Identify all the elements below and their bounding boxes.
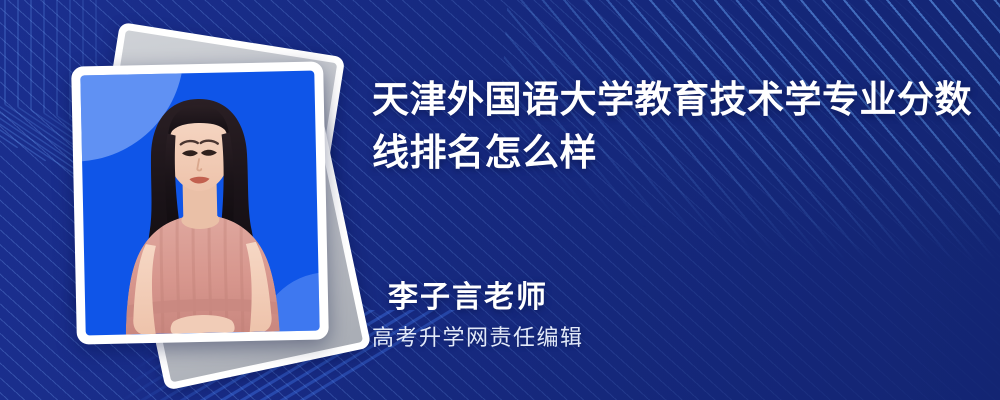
photo-card-stack [60, 40, 370, 370]
author-photo-frame [71, 61, 329, 344]
promo-banner: 天津外国语大学教育技术学专业分数线排名怎么样 李子言老师 高考升学网责任编辑 [0, 0, 1000, 400]
author-photo [80, 71, 319, 336]
portrait-illustration [80, 71, 319, 336]
author-name: 李子言老师 [388, 272, 548, 316]
author-role: 高考升学网责任编辑 [372, 320, 584, 352]
page-title: 天津外国语大学教育技术学专业分数线排名怎么样 [372, 74, 972, 179]
